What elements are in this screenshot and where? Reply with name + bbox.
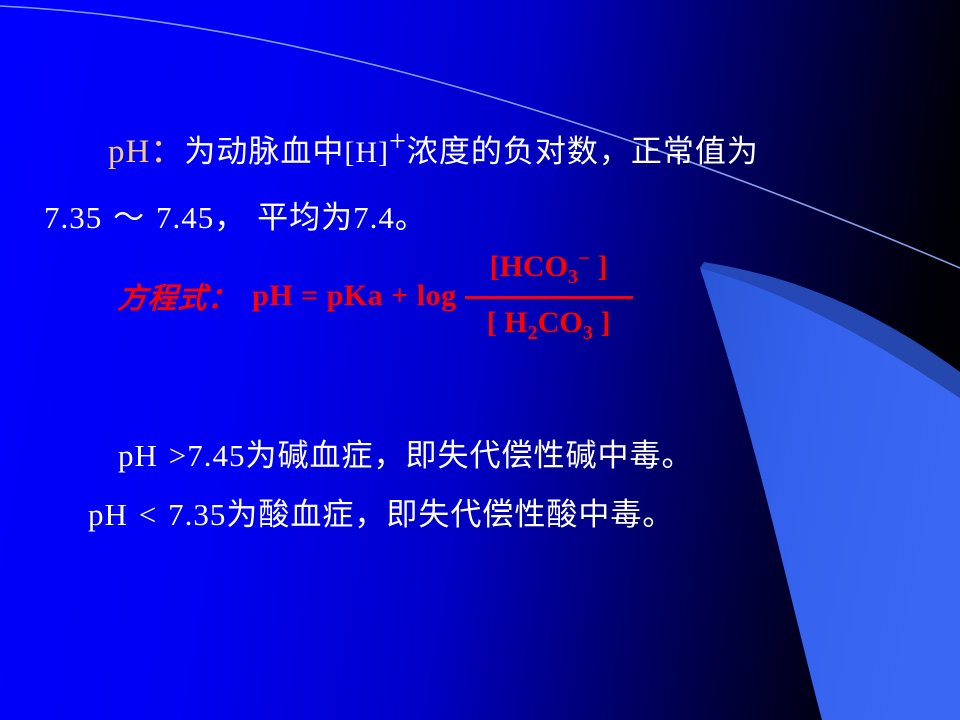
alkalosis-line: pH >7.45为碱血症，即失代偿性碱中毒。 (118, 430, 693, 475)
fraction-bar (465, 296, 633, 299)
alkalosis-operator: > (169, 438, 187, 473)
average-value: 7.4 (353, 200, 395, 235)
range-period: 。 (395, 200, 427, 236)
equation-fraction: [HCO3− ] [ H2CO3 ] (465, 248, 633, 344)
numerator-close-bracket: ] (590, 250, 608, 283)
hydrogen-charge-superscript: + (389, 125, 407, 158)
slide-content: pH：为动脉血中[H]+浓度的负对数，正常值为 7.35 ～ 7.45， 平均为… (0, 0, 960, 720)
intro-line: pH：为动脉血中[H]+浓度的负对数，正常值为 (108, 124, 759, 172)
numerator-charge-superscript: − (578, 246, 590, 270)
denominator-middle: CO (538, 306, 583, 339)
equation-row: 方程式： pH = pKa + log [HCO3− ] [ H2CO3 ] (118, 248, 633, 344)
alkalosis-description: 为碱血症，即失代偿性碱中毒。 (245, 438, 693, 474)
equation-label: 方程式： (117, 275, 240, 317)
numerator-main: [HCO (490, 250, 568, 283)
numerator-subscript: 3 (568, 266, 578, 288)
denominator-open-bracket: [ H (487, 306, 528, 339)
range-comma: ， (214, 200, 246, 236)
ph-term-highlight: pH (108, 134, 150, 170)
denominator-subscript-1: 2 (528, 322, 538, 344)
range-low-value: 7.35 (44, 200, 102, 235)
presentation-slide: pH：为动脉血中[H]+浓度的负对数，正常值为 7.35 ～ 7.45， 平均为… (0, 0, 960, 720)
equation-block: 方程式： pH = pKa + log [HCO3− ] [ H2CO3 ] (118, 248, 633, 344)
hydrogen-bracket: [H] (344, 136, 389, 169)
acidosis-ph-term: pH (88, 497, 128, 532)
acidosis-operator: < (139, 497, 157, 532)
denominator-subscript-2: 3 (583, 322, 593, 344)
acidosis-threshold: 7.35 (168, 497, 226, 532)
range-tilde: ～ (113, 200, 145, 235)
average-label: 平均为 (257, 200, 353, 236)
intro-text-before: 为动脉血中 (184, 134, 344, 170)
equation-denominator: [ H2CO3 ] (487, 308, 611, 343)
acidosis-line: pH < 7.35为酸血症，即失代偿性酸中毒。 (88, 489, 674, 534)
acidosis-description: 为酸血症，即失代偿性酸中毒。 (226, 497, 674, 533)
equation-numerator: [HCO3− ] (490, 248, 608, 287)
intro-text-after: 浓度的负对数，正常值为 (407, 134, 759, 170)
alkalosis-ph-term: pH (118, 438, 158, 473)
denominator-close-bracket: ] (593, 306, 611, 339)
normal-range-line: 7.35 ～ 7.45， 平均为7.4。 (44, 192, 427, 237)
equation-expression: pH = pKa + log (252, 279, 457, 313)
range-high-value: 7.45 (156, 200, 214, 235)
ph-term-colon: ： (150, 134, 184, 170)
alkalosis-threshold: 7.45 (187, 438, 245, 473)
